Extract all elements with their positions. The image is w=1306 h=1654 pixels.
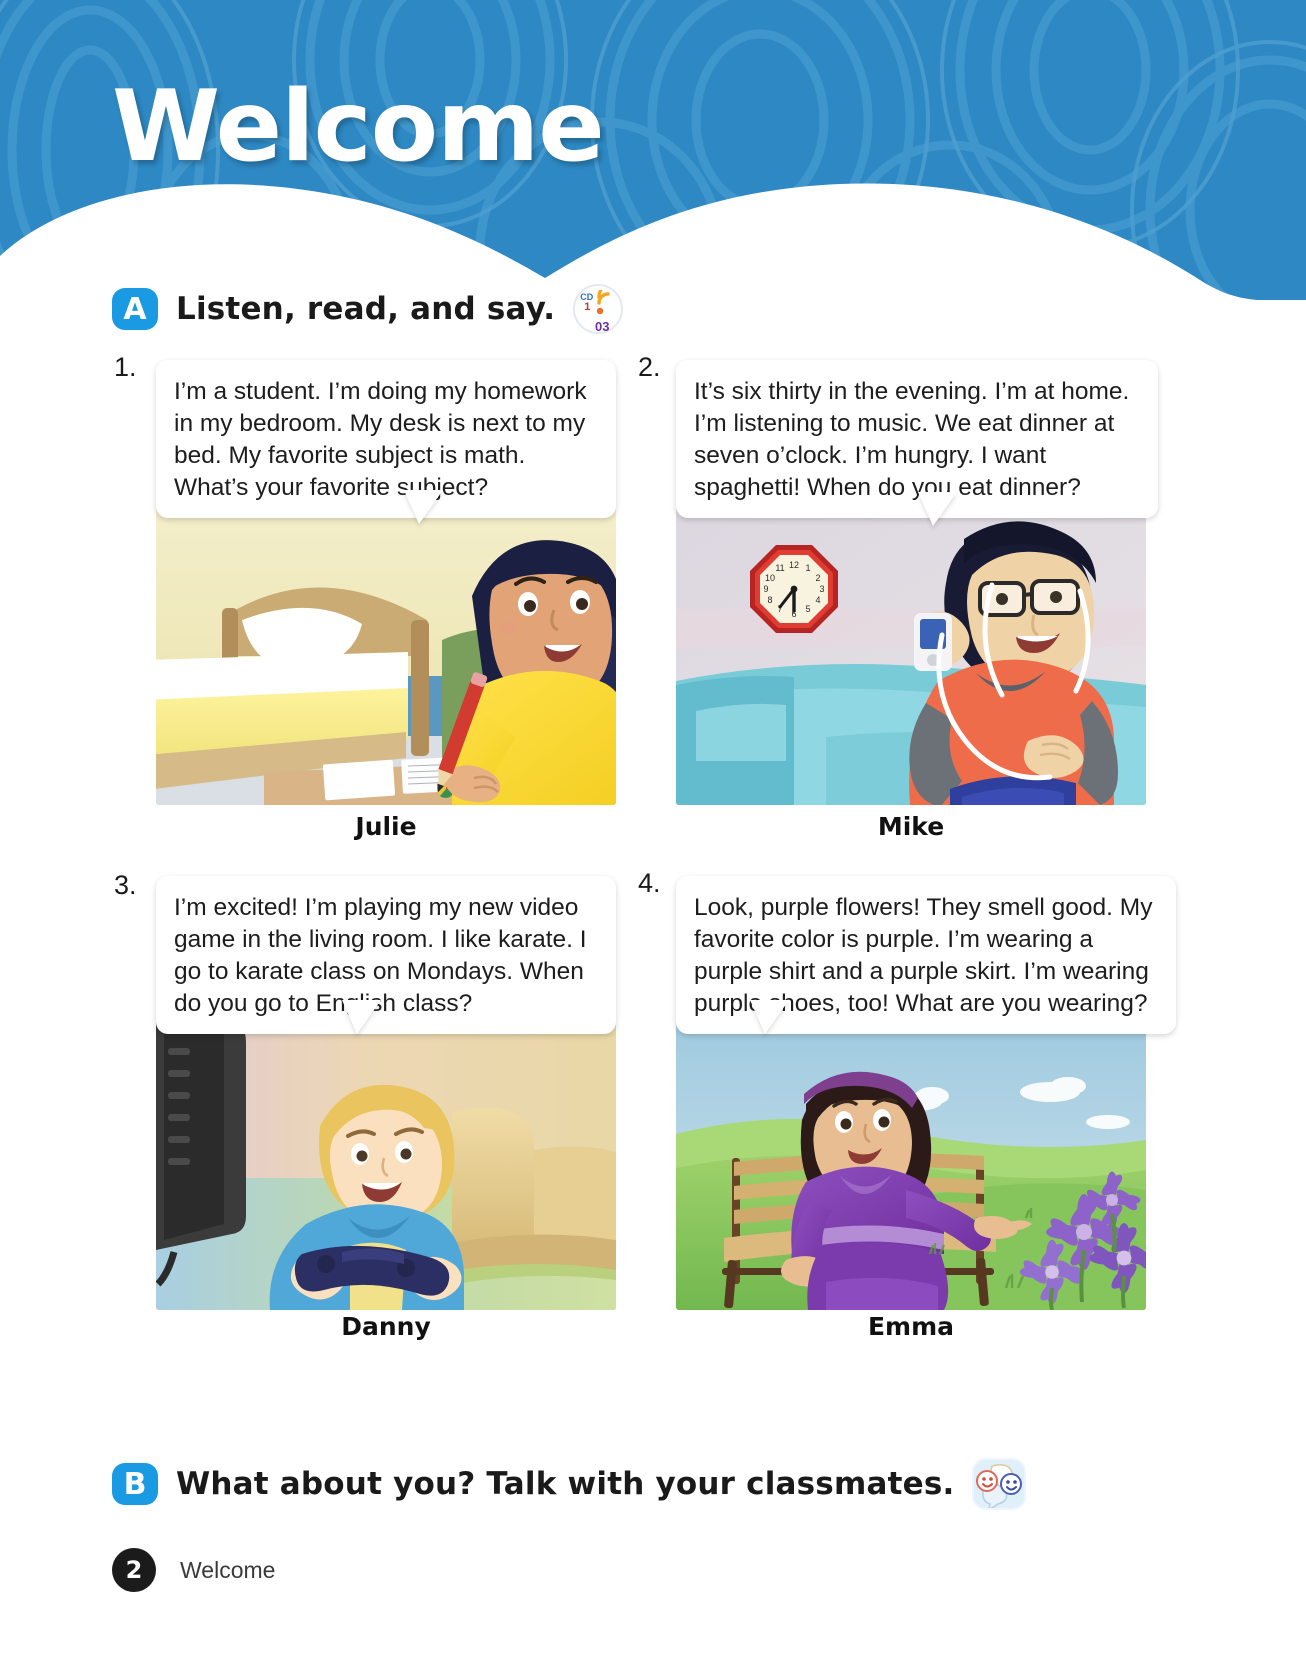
talk-with-classmates-icon[interactable] [972, 1458, 1026, 1510]
cd-audio-icon[interactable]: CD 1 03 [573, 284, 623, 334]
svg-text:12: 12 [789, 560, 799, 570]
page-footer: 2 Welcome [112, 1548, 275, 1592]
item-number-3: 3. [114, 870, 137, 901]
speech-bubble-tail-3 [342, 1000, 381, 1034]
svg-text:3: 3 [819, 584, 824, 594]
scene-julie-bedroom [156, 500, 616, 805]
cd-disc-number: 1 [584, 302, 590, 313]
item-number-1: 1. [114, 352, 137, 383]
section-a-heading: A Listen, read, and say. CD 1 03 [112, 284, 623, 334]
speech-bubble-tail-1 [404, 490, 443, 524]
svg-text:5: 5 [805, 604, 810, 614]
svg-text:4: 4 [815, 595, 820, 605]
svg-text:8: 8 [767, 595, 772, 605]
speech-bubble-tail-2 [918, 492, 957, 526]
character-name-mike: Mike [676, 812, 1146, 841]
svg-text:2: 2 [815, 573, 820, 583]
speech-bubble-tail-4 [750, 1000, 789, 1034]
audio-waves-icon [596, 290, 620, 316]
section-a-title: Listen, read, and say. [176, 291, 555, 327]
section-b-heading: B What about you? Talk with your classma… [112, 1458, 1026, 1510]
character-name-danny: Danny [156, 1312, 616, 1341]
speech-bubble-1: I’m a student. I’m doing my homework in … [156, 360, 616, 518]
svg-text:11: 11 [775, 563, 784, 573]
page-number-badge: 2 [112, 1548, 156, 1592]
scene-mike-listening-music: 1212 345 678 91011 [676, 505, 1146, 805]
item-number-2: 2. [638, 352, 661, 383]
footer-unit-label: Welcome [180, 1557, 275, 1584]
character-name-emma: Emma [676, 1312, 1146, 1341]
header-bottom-curve [0, 160, 1306, 300]
svg-text:1: 1 [805, 563, 810, 573]
cd-track-number: 03 [587, 320, 617, 333]
item-number-4: 4. [638, 868, 661, 899]
page-header: Welcome [0, 0, 1306, 300]
speech-bubble-2: It’s six thirty in the evening. I’m at h… [676, 360, 1158, 518]
scene-emma-park-bench [676, 1010, 1146, 1310]
section-badge-a: A [112, 288, 158, 330]
character-name-julie: Julie [156, 812, 616, 841]
section-badge-b: B [112, 1463, 158, 1505]
speech-bubble-3: I’m excited! I’m playing my new video ga… [156, 876, 616, 1034]
svg-text:9: 9 [763, 584, 768, 594]
textbook-page: Welcome A Listen, read, and say. CD 1 03… [0, 0, 1306, 1654]
scene-danny-video-game [156, 1010, 616, 1310]
svg-text:10: 10 [765, 573, 775, 583]
section-b-title: What about you? Talk with your classmate… [176, 1466, 954, 1502]
